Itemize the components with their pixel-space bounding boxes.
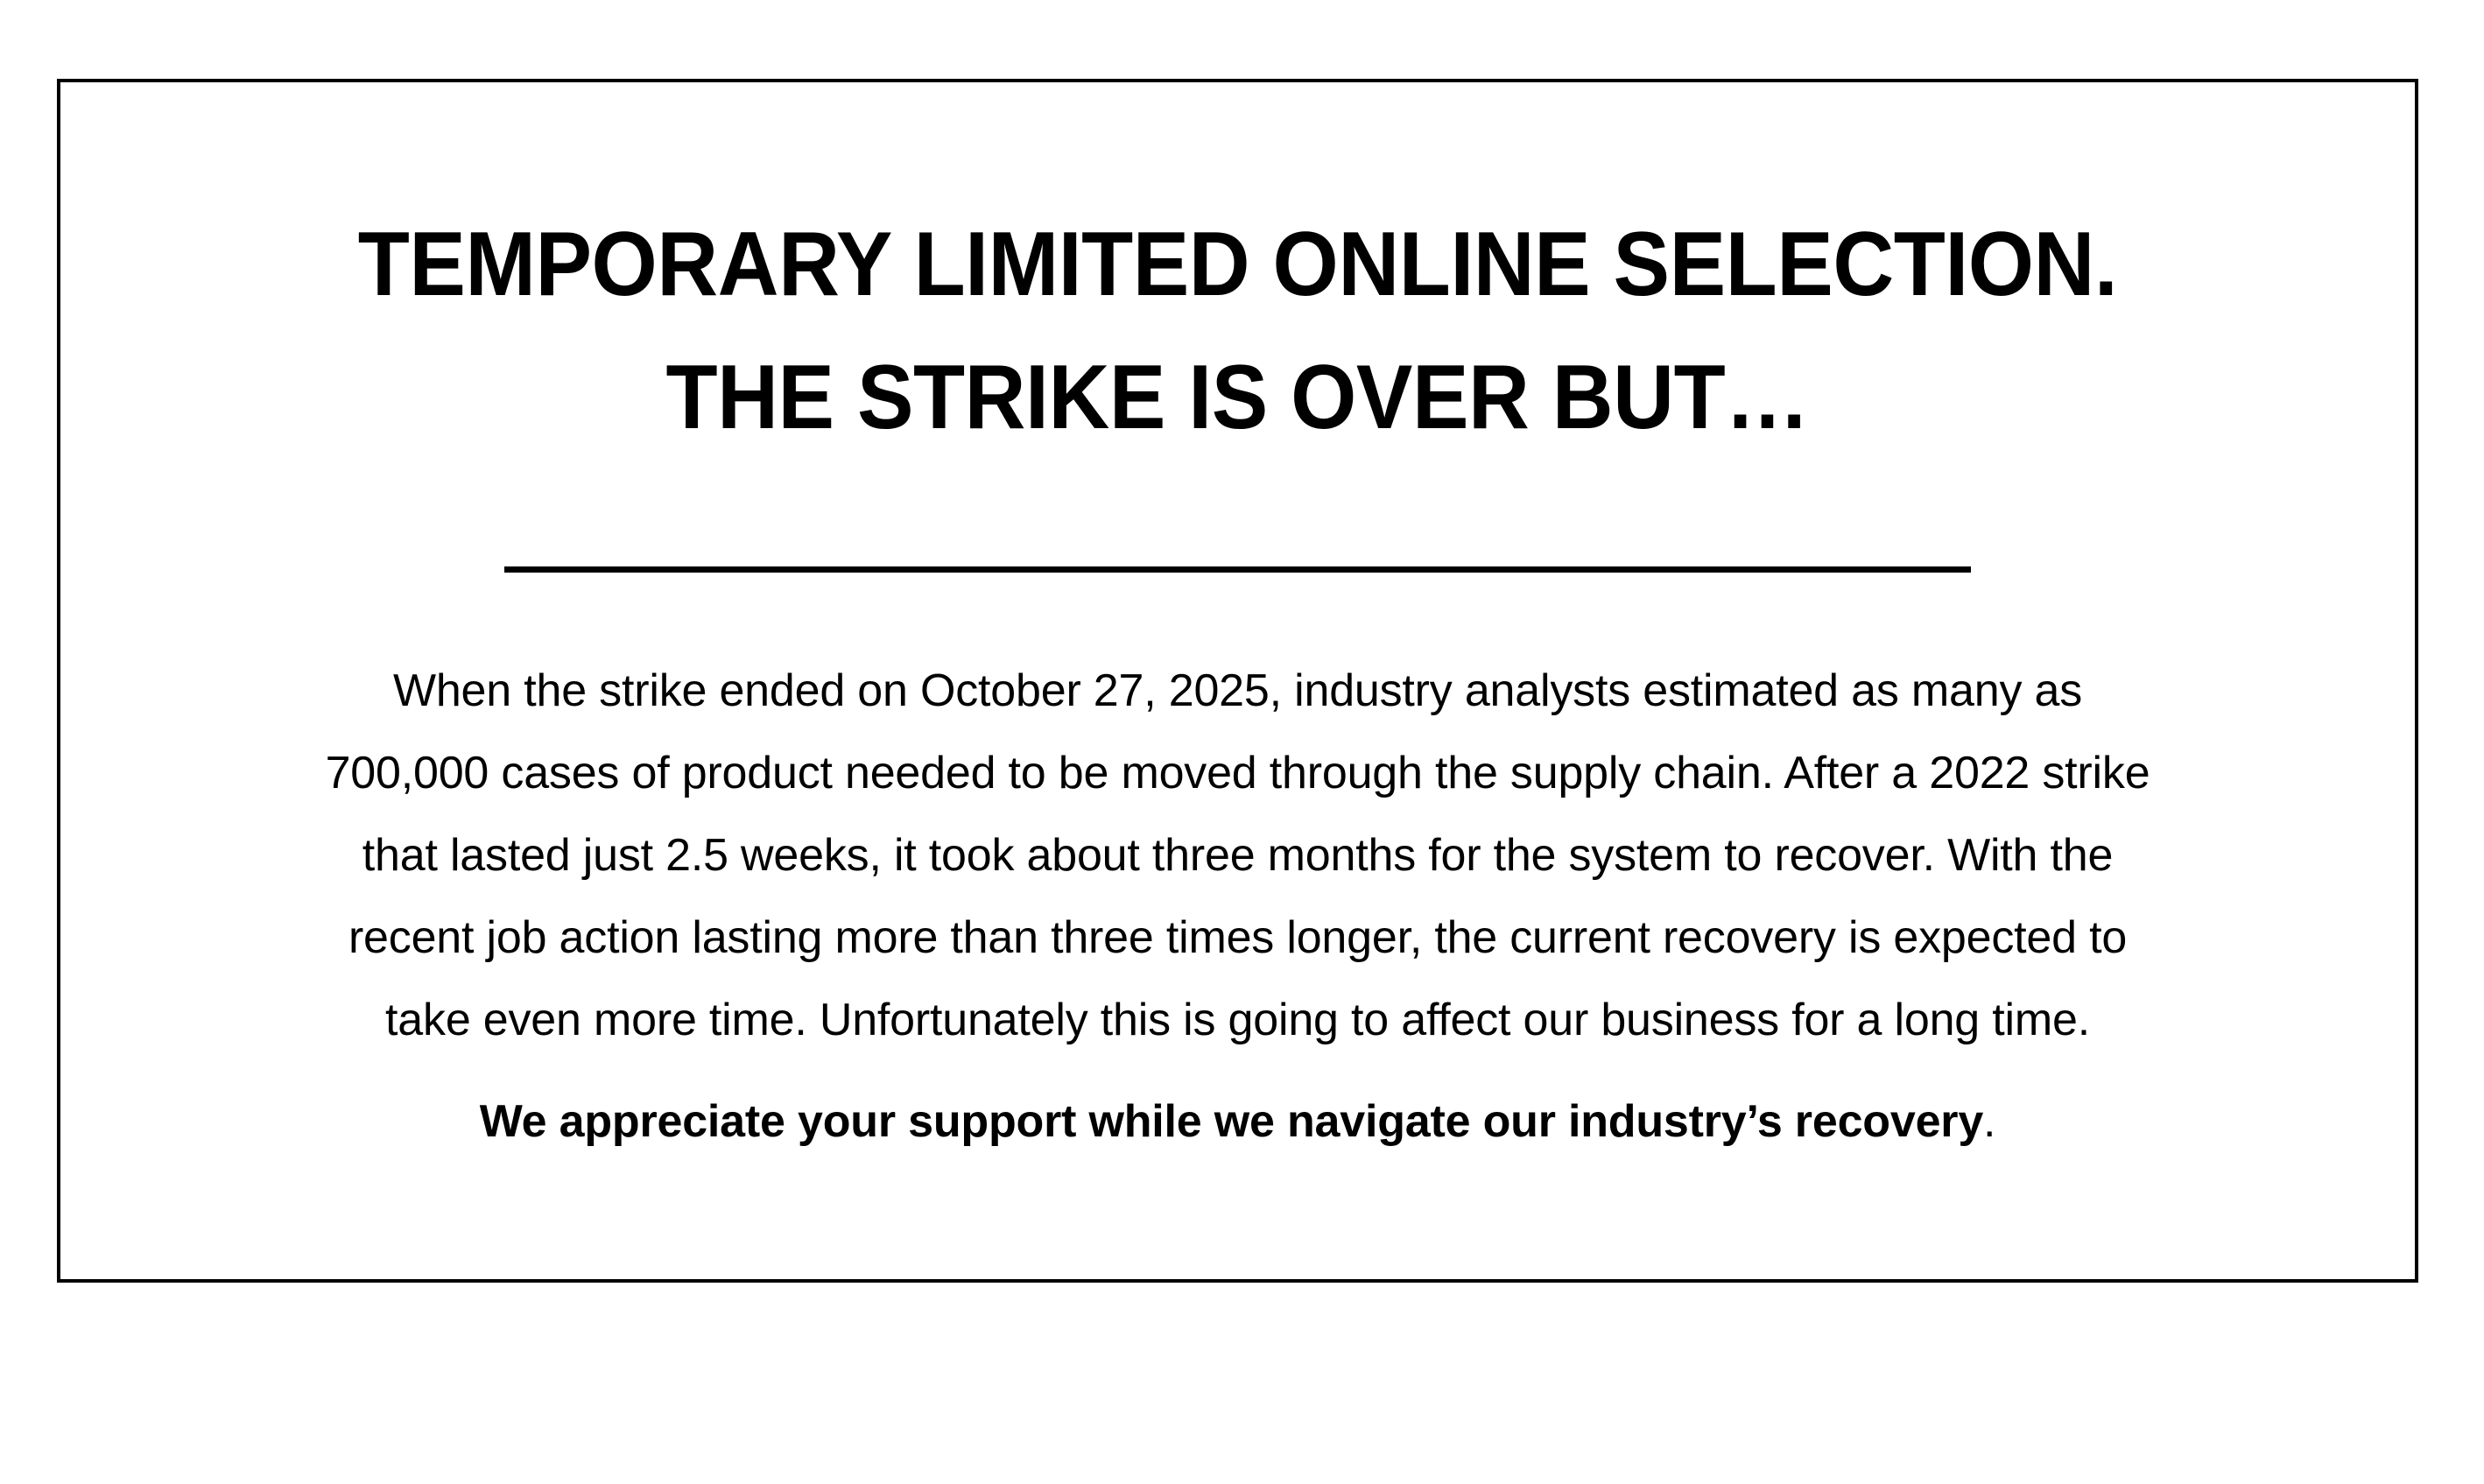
body-line-2: 700,000 cases of product needed to be mo… <box>113 732 2363 814</box>
announcement-card: TEMPORARY LIMITED ONLINE SELECTION. THE … <box>57 79 2418 1283</box>
closing-statement: We appreciate your support while we navi… <box>113 1080 2363 1163</box>
headline-line-1: TEMPORARY LIMITED ONLINE SELECTION. <box>143 198 2333 331</box>
body-line-3: that lasted just 2.5 weeks, it took abou… <box>113 814 2363 897</box>
body-line-1: When the strike ended on October 27, 202… <box>113 650 2363 732</box>
body-line-5: take even more time. Unfortunately this … <box>113 979 2363 1061</box>
headline-line-2: THE STRIKE IS OVER BUT… <box>143 331 2333 464</box>
closing-statement-period: . <box>1983 1096 1995 1147</box>
body-line-4: recent job action lasting more than thre… <box>113 897 2363 979</box>
page-title: TEMPORARY LIMITED ONLINE SELECTION. THE … <box>60 198 2415 464</box>
announcement-body: When the strike ended on October 27, 202… <box>113 650 2363 1061</box>
divider-rule <box>504 566 1971 573</box>
closing-statement-text: We appreciate your support while we navi… <box>480 1096 1983 1147</box>
announcement-card-inner: TEMPORARY LIMITED ONLINE SELECTION. THE … <box>60 82 2415 1279</box>
divider <box>60 566 2415 573</box>
